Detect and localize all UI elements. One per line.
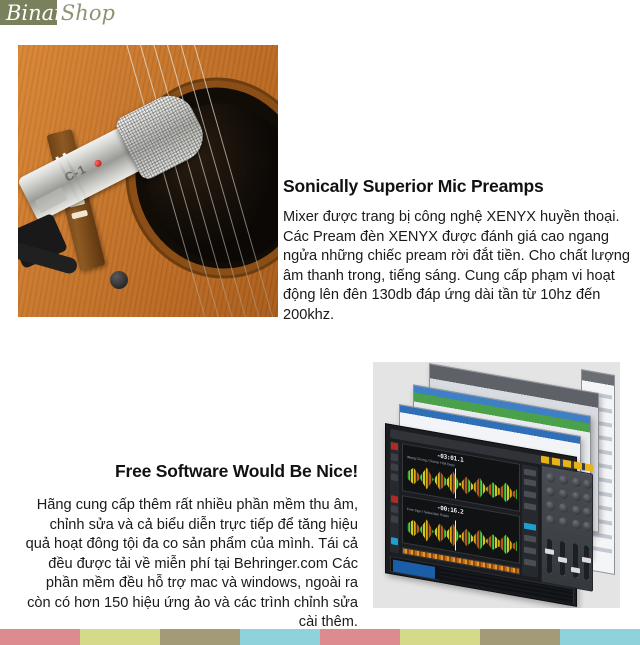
footer-color-block xyxy=(480,629,560,645)
deck-a-playhead xyxy=(455,468,456,498)
product-info-page: BinaiShop C-1 Sonically Superior Mic Pre xyxy=(0,0,640,645)
deck-b-playhead xyxy=(455,520,456,550)
section-mic-preamps: Sonically Superior Mic Preamps Mixer đượ… xyxy=(283,176,635,325)
footer-color-bar xyxy=(0,629,640,645)
footer-color-block xyxy=(560,629,640,645)
footer-color-block xyxy=(320,629,400,645)
software-mixer-panel xyxy=(541,465,593,592)
software-right-controls xyxy=(522,464,538,578)
microphone-mount-knob xyxy=(110,271,128,289)
software-window-stack: Wang Chung / Dance Hall Days -03:01.1 Fi… xyxy=(373,362,620,608)
software-product-image: Wang Chung / Dance Hall Days -03:01.1 Fi… xyxy=(373,362,620,608)
logo-text-secondary: Shop xyxy=(61,1,115,25)
footer-color-block xyxy=(400,629,480,645)
software-left-controls xyxy=(390,441,399,554)
section-body: Hãng cung cấp thêm rất nhiều phần mềm th… xyxy=(24,496,358,633)
section-body: Mixer được trang bị công nghệ XENYX huyề… xyxy=(283,208,635,325)
site-logo[interactable]: BinaiShop xyxy=(0,0,200,27)
browser-nav-pane xyxy=(393,559,435,578)
footer-color-block xyxy=(80,629,160,645)
deck-a-indicator xyxy=(391,442,398,450)
microphone-product-image: C-1 xyxy=(18,45,278,317)
section-free-software: Free Software Would Be Nice! Hãng cung c… xyxy=(24,461,358,633)
section-heading: Free Software Would Be Nice! xyxy=(24,461,358,482)
footer-color-block xyxy=(240,629,320,645)
cue-button xyxy=(524,523,536,531)
footer-color-block xyxy=(0,629,80,645)
footer-color-block xyxy=(160,629,240,645)
section-heading: Sonically Superior Mic Preamps xyxy=(283,176,635,197)
logo-text-primary: Binai xyxy=(6,1,61,25)
logo-text: BinaiShop xyxy=(6,1,115,25)
